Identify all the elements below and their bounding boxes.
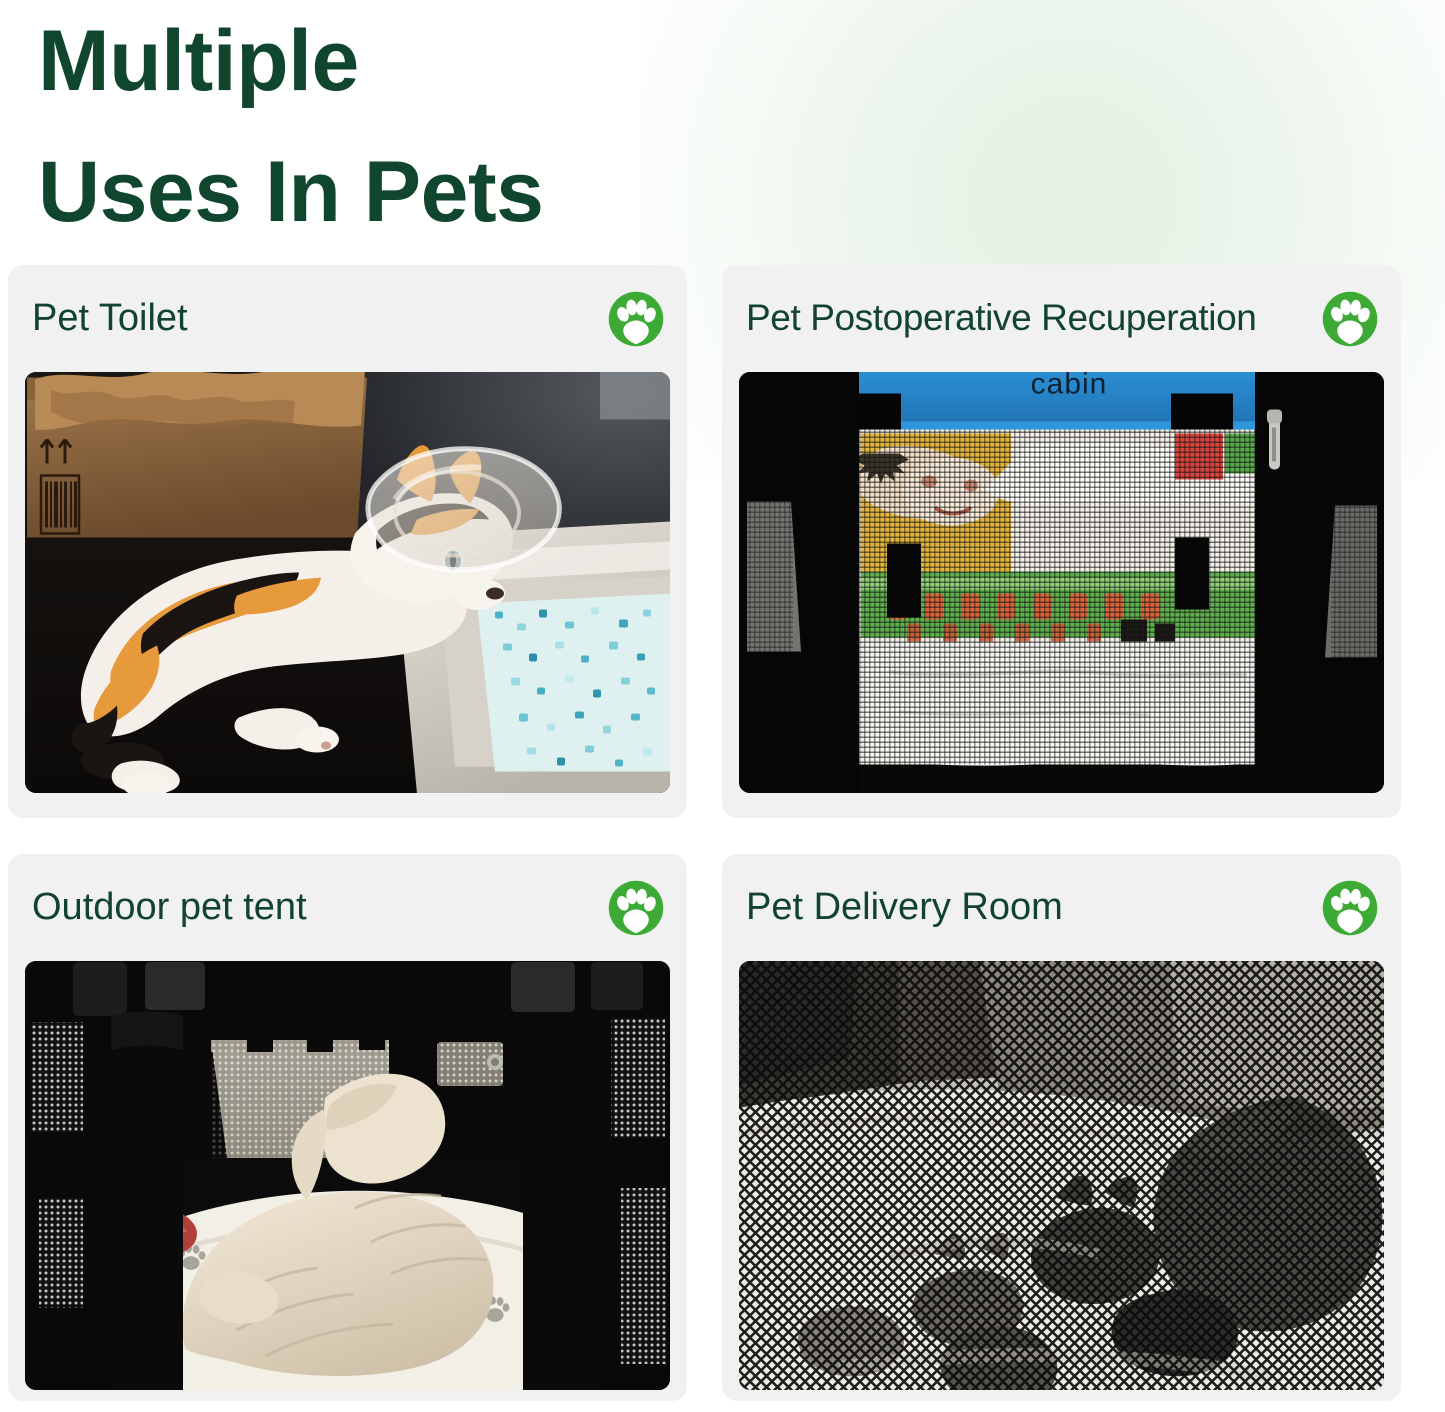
- card-header: Pet Delivery Room: [722, 854, 1401, 961]
- card-title-outdoor-pet-tent: Outdoor pet tent: [32, 887, 597, 929]
- page-title: Multiple Uses In Pets: [38, 0, 738, 257]
- card-title-pet-postoperative-recuperation: Pet Postoperative Recuperation: [746, 298, 1311, 339]
- card-header: Outdoor pet tent: [8, 854, 687, 961]
- card-title-pet-toilet: Pet Toilet: [32, 298, 597, 340]
- use-case-card-pet-toilet[interactable]: Pet Toilet: [8, 265, 687, 818]
- paw-icon: [607, 290, 665, 348]
- svg-text:cabin: cabin: [1031, 372, 1108, 401]
- paw-icon: [1321, 290, 1379, 348]
- photo-outdoor-pet-tent: [25, 961, 670, 1390]
- use-case-card-pet-postoperative-recuperation[interactable]: Pet Postoperative Recuperation: [722, 265, 1401, 818]
- card-header: Pet Toilet: [8, 265, 687, 372]
- photo-pet-toilet: [25, 372, 670, 793]
- use-case-card-outdoor-pet-tent[interactable]: Outdoor pet tent: [8, 854, 687, 1401]
- paw-icon: [1321, 879, 1379, 937]
- photo-pet-postoperative-recuperation: cabin: [739, 372, 1384, 793]
- paw-icon: [607, 879, 665, 937]
- photo-pet-delivery-room: [739, 961, 1384, 1390]
- card-header: Pet Postoperative Recuperation: [722, 265, 1401, 372]
- card-title-pet-delivery-room: Pet Delivery Room: [746, 887, 1311, 929]
- use-case-card-pet-delivery-room[interactable]: Pet Delivery Room: [722, 854, 1401, 1401]
- use-case-card-grid: Pet Toilet: [8, 265, 1437, 1401]
- infographic-page: Multiple Uses In Pets Pet Toilet: [0, 0, 1445, 1412]
